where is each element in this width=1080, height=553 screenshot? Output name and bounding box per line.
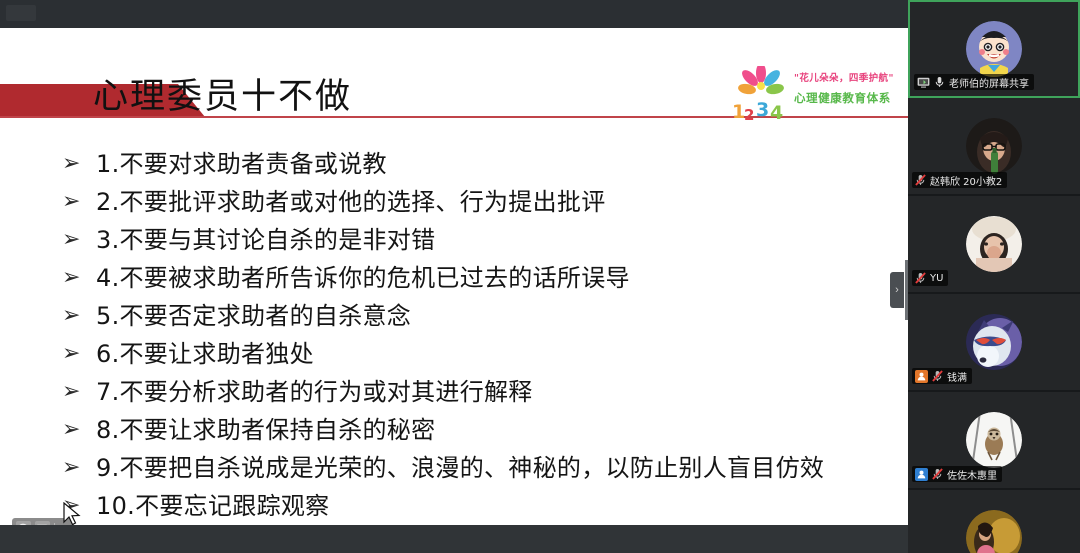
participant-tile[interactable]: 老师伯的屏幕共享 xyxy=(908,0,1080,98)
bullet-marker-icon: ➢ xyxy=(62,374,96,410)
bullet-item: ➢3.不要与其讨论自杀的是非对错 xyxy=(62,222,892,260)
user-avatar-icon xyxy=(915,468,928,481)
bullet-item: ➢7.不要分析求助者的行为或对其进行解释 xyxy=(62,374,892,412)
bullet-marker-icon: ➢ xyxy=(62,146,96,182)
bullet-item-text: 2.不要批评求助者或对他的选择、行为提出批评 xyxy=(96,184,606,220)
page-title: 心理委员十不做 xyxy=(93,68,352,119)
logo-slogan: "花儿朵朵，四季护航" xyxy=(794,70,902,84)
mouse-cursor-icon xyxy=(62,502,82,525)
avatar xyxy=(966,510,1022,553)
svg-text:4: 4 xyxy=(770,102,783,122)
participant-name-badge: YU xyxy=(912,270,948,286)
participant-name: 钱满 xyxy=(947,369,967,384)
participant-tile[interactable]: YU xyxy=(908,196,1080,294)
conference-window: 心理委员十不做 1 2 3 4 "花儿朵朵，四季护航" 心理健 xyxy=(0,0,1080,553)
bullet-marker-icon: ➢ xyxy=(62,184,96,220)
svg-text:2: 2 xyxy=(744,106,754,122)
topbar-placeholder xyxy=(6,5,36,21)
bullet-item: ➢5.不要否定求助者的自杀意念 xyxy=(62,298,892,336)
avatar xyxy=(966,21,1022,77)
window-topbar xyxy=(0,0,908,28)
bullet-item: ➢4.不要被求助者所告诉你的危机已过去的话所误导 xyxy=(62,260,892,298)
share-bottom-bar xyxy=(0,525,908,553)
bullet-marker-icon: ➢ xyxy=(62,222,96,258)
flower-logo-icon: 1 2 3 4 xyxy=(730,66,792,122)
bullet-item: ➢8.不要让求助者保持自杀的秘密 xyxy=(62,412,892,450)
bullet-item: ➢2.不要批评求助者或对他的选择、行为提出批评 xyxy=(62,184,892,222)
avatar xyxy=(966,118,1022,174)
bullet-item: ➢10.不要忘记跟踪观察 xyxy=(62,488,892,525)
participant-name-badge: 赵韩欣 20小教2 xyxy=(912,172,1007,188)
screen-share-icon xyxy=(917,77,930,88)
participant-name: YU xyxy=(930,273,943,284)
collapse-panel-handle[interactable]: › xyxy=(890,272,904,308)
participant-tile[interactable]: 佐佐木惠里 xyxy=(908,392,1080,490)
bullet-item-text: 6.不要让求助者独处 xyxy=(96,336,314,372)
bullet-marker-icon: ➢ xyxy=(62,336,96,372)
participant-strip[interactable]: 老师伯的屏幕共享赵韩欣 20小教2YU 钱满 佐佐木惠里 xyxy=(908,0,1080,553)
bullet-marker-icon: ➢ xyxy=(62,298,96,334)
user-avatar-icon xyxy=(915,370,928,383)
bullet-item: ➢6.不要让求助者独处 xyxy=(62,336,892,374)
participant-tile[interactable]: 赵韩欣 20小教2 xyxy=(908,98,1080,196)
svg-text:3: 3 xyxy=(756,99,769,121)
avatar xyxy=(966,216,1022,272)
participant-name-badge: 佐佐木惠里 xyxy=(912,466,1002,482)
bullet-marker-icon: ➢ xyxy=(62,412,96,448)
bullet-item-text: 1.不要对求助者责备或说教 xyxy=(96,146,387,182)
bullet-item-text: 9.不要把自杀说成是光荣的、浪漫的、神秘的，以防止别人盲目仿效 xyxy=(96,450,824,486)
participant-name-badge: 钱满 xyxy=(912,368,972,384)
participant-tile[interactable] xyxy=(908,490,1080,553)
shared-screen-slide[interactable]: 心理委员十不做 1 2 3 4 "花儿朵朵，四季护航" 心理健 xyxy=(0,28,908,525)
bullet-item-text: 3.不要与其讨论自杀的是非对错 xyxy=(96,222,435,258)
bullet-item-text: 8.不要让求助者保持自杀的秘密 xyxy=(96,412,435,448)
bullet-marker-icon: ➢ xyxy=(62,450,96,486)
logo-system-name: 心理健康教育体系 xyxy=(794,90,902,106)
logo-text-block: "花儿朵朵，四季护航" 心理健康教育体系 xyxy=(794,70,902,106)
bullet-item-text: 5.不要否定求助者的自杀意念 xyxy=(96,298,411,334)
participant-name: 赵韩欣 20小教2 xyxy=(930,173,1002,188)
avatar xyxy=(966,314,1022,370)
participant-tile[interactable]: 钱满 xyxy=(908,294,1080,392)
participant-name: 老师伯的屏幕共享 xyxy=(949,75,1029,90)
slide-bullet-list: ➢1.不要对求助者责备或说教➢2.不要批评求助者或对他的选择、行为提出批评➢3.… xyxy=(62,146,892,525)
bullet-item-text: 7.不要分析求助者的行为或对其进行解释 xyxy=(96,374,533,410)
organization-logo: 1 2 3 4 "花儿朵朵，四季护航" 心理健康教育体系 xyxy=(730,66,902,122)
bullet-item-text: 4.不要被求助者所告诉你的危机已过去的话所误导 xyxy=(96,260,630,296)
avatar xyxy=(966,412,1022,468)
bullet-item: ➢9.不要把自杀说成是光荣的、浪漫的、神秘的，以防止别人盲目仿效 xyxy=(62,450,892,488)
participant-name-badge: 老师伯的屏幕共享 xyxy=(914,74,1034,90)
participant-name: 佐佐木惠里 xyxy=(947,467,997,482)
bullet-marker-icon: ➢ xyxy=(62,260,96,296)
bullet-item: ➢1.不要对求助者责备或说教 xyxy=(62,146,892,184)
bullet-item-text: 10.不要忘记跟踪观察 xyxy=(96,488,329,524)
